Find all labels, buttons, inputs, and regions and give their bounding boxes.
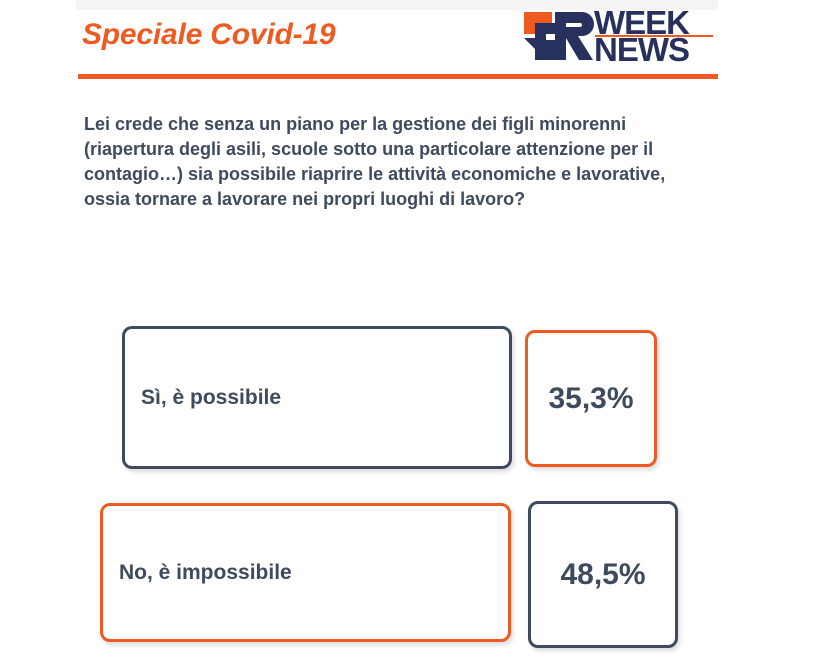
er-monogram-icon: [522, 10, 594, 62]
results-chart: Sì, è possibile 35,3% No, è impossibile …: [0, 0, 818, 665]
answer-label-box[interactable]: No, è impossibile: [100, 503, 511, 642]
answer-value-box[interactable]: 35,3%: [525, 330, 657, 467]
header: Speciale Covid-19 WEEK NEWS: [0, 0, 818, 86]
answer-label: Sì, è possibile: [141, 386, 281, 410]
answer-value-box[interactable]: 48,5%: [528, 501, 678, 648]
question-text: Lei crede che senza un piano per la gest…: [84, 112, 710, 212]
logo-wordmark: WEEK NEWS: [594, 7, 718, 65]
er-week-news-logo: WEEK NEWS: [522, 7, 718, 65]
answer-value: 48,5%: [560, 558, 645, 592]
answer-value: 35,3%: [548, 382, 633, 416]
answer-label-box[interactable]: Sì, è possibile: [122, 326, 512, 469]
answer-label: No, è impossibile: [119, 561, 292, 585]
logo-word-news: NEWS: [594, 36, 689, 64]
header-divider: [78, 74, 718, 79]
page-title: Speciale Covid-19: [82, 18, 335, 52]
